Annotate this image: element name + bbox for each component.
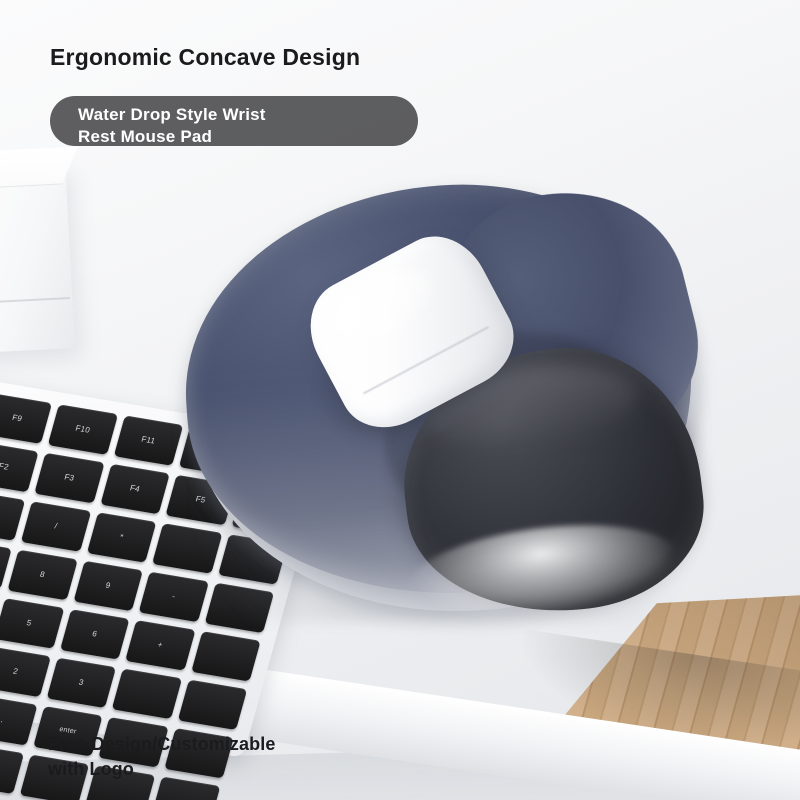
keypad-key: 2 [0,647,50,698]
keypad-key [112,669,182,720]
keypad-key: F2 [0,442,39,493]
footnote-line-1: Free Design/Customizable [48,732,275,757]
keypad-key: 8 [7,550,77,601]
keypad-key: = [0,490,25,541]
mouse-seam-line [363,326,489,394]
headline-text: Ergonomic Concave Design [50,44,360,71]
keypad-key: F9 [0,393,52,444]
keypad-key: / [21,501,91,552]
footnote-line-2: with Logo [48,757,275,782]
white-box [0,163,75,354]
keypad-key [177,680,247,731]
product-photo-scene: escF9F10F11F12F13F1F2F3F4F5num lock=/*cl… [0,0,800,800]
keypad-key: F3 [34,453,104,504]
keypad-key: F10 [48,404,118,455]
keypad-key: * [86,512,156,563]
keypad-key: 9 [73,561,143,612]
keypad-key: F11 [113,415,183,466]
badge-text-line-1: Water Drop Style Wrist [78,104,408,126]
badge-text-line-2: Rest Mouse Pad [78,126,408,148]
keypad-key: F4 [100,464,170,515]
keypad-key: + [125,620,195,671]
keypad-key [191,631,261,682]
keypad-key: 6 [60,609,130,660]
keypad-key: 5 [0,598,64,649]
badge-text: Water Drop Style Wrist Rest Mouse Pad [78,104,408,148]
keypad-key: 3 [46,658,116,709]
footnote-text: Free Design/Customizable with Logo [48,732,275,782]
